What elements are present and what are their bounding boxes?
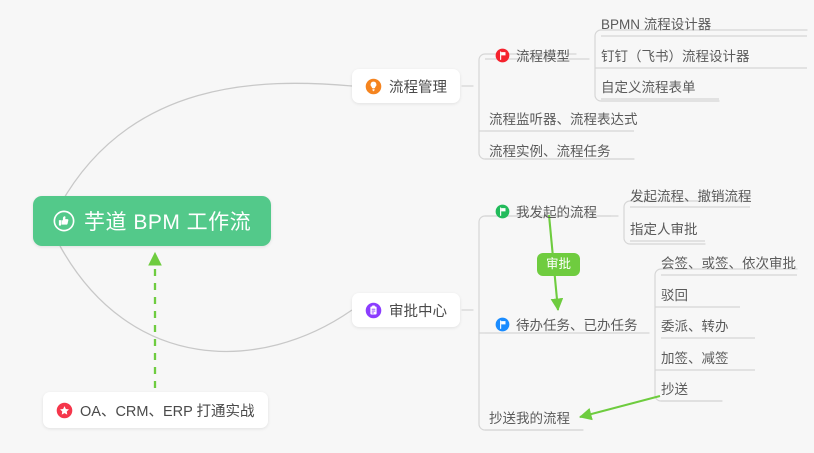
mindmap-canvas: 芋道 BPM 工作流 流程管理 流程模型 BPMN 流程设计器 钉钉（飞书）流程… bbox=[0, 0, 814, 453]
leaf-node-countersign[interactable]: 会签、或签、依次审批 bbox=[661, 252, 796, 272]
leaf-node-assignee-approval[interactable]: 指定人审批 bbox=[630, 218, 698, 238]
root-label: 芋道 BPM 工作流 bbox=[84, 206, 251, 236]
star-icon bbox=[56, 402, 73, 419]
branch-label: 流程管理 bbox=[389, 76, 447, 97]
clipboard-icon bbox=[365, 302, 382, 319]
sub-node-label: 流程模型 bbox=[516, 45, 570, 65]
leaf-node-delegate-transfer[interactable]: 委派、转办 bbox=[661, 315, 729, 335]
leaf-node-custom-form[interactable]: 自定义流程表单 bbox=[601, 76, 696, 96]
annotation-arrow-cc-flow bbox=[580, 396, 660, 417]
flag-icon bbox=[495, 317, 510, 332]
footer-node-integration[interactable]: OA、CRM、ERP 打通实战 bbox=[43, 392, 268, 428]
sub-node-label: 我发起的流程 bbox=[516, 201, 597, 221]
sub-node-process-model[interactable]: 流程模型 bbox=[495, 45, 570, 65]
annotation-badge-approval: 审批 bbox=[537, 253, 580, 276]
flag-icon bbox=[495, 204, 510, 219]
sub-node-my-started-processes[interactable]: 我发起的流程 bbox=[495, 201, 597, 221]
leaf-node-add-remove-sign[interactable]: 加签、减签 bbox=[661, 347, 729, 367]
link-root-to-approval-center bbox=[60, 246, 352, 351]
branch-node-process-management[interactable]: 流程管理 bbox=[352, 69, 460, 103]
sub-node-label: 待办任务、已办任务 bbox=[516, 314, 638, 334]
leaf-node-process-instance[interactable]: 流程实例、流程任务 bbox=[489, 140, 611, 160]
branch-node-approval-center[interactable]: 审批中心 bbox=[352, 293, 460, 327]
leaf-node-process-listener[interactable]: 流程监听器、流程表达式 bbox=[489, 108, 638, 128]
flag-icon bbox=[495, 48, 510, 63]
link-root-to-process-management bbox=[60, 83, 352, 205]
leaf-node-cc[interactable]: 抄送 bbox=[661, 378, 688, 398]
leaf-node-bpmn-designer[interactable]: BPMN 流程设计器 bbox=[601, 13, 711, 33]
leaf-node-cc-my-processes[interactable]: 抄送我的流程 bbox=[489, 407, 570, 427]
leaf-node-reject[interactable]: 驳回 bbox=[661, 284, 688, 304]
leaf-node-dingtalk-designer[interactable]: 钉钉（飞书）流程设计器 bbox=[601, 45, 750, 65]
root-node[interactable]: 芋道 BPM 工作流 bbox=[33, 196, 271, 246]
leaf-node-start-cancel-process[interactable]: 发起流程、撤销流程 bbox=[630, 185, 752, 205]
footer-node-label: OA、CRM、ERP 打通实战 bbox=[80, 400, 255, 421]
lightbulb-icon bbox=[365, 78, 382, 95]
thumbs-up-icon bbox=[53, 210, 75, 232]
sub-node-todo-done-tasks[interactable]: 待办任务、已办任务 bbox=[495, 314, 638, 334]
branch-label: 审批中心 bbox=[389, 300, 447, 321]
